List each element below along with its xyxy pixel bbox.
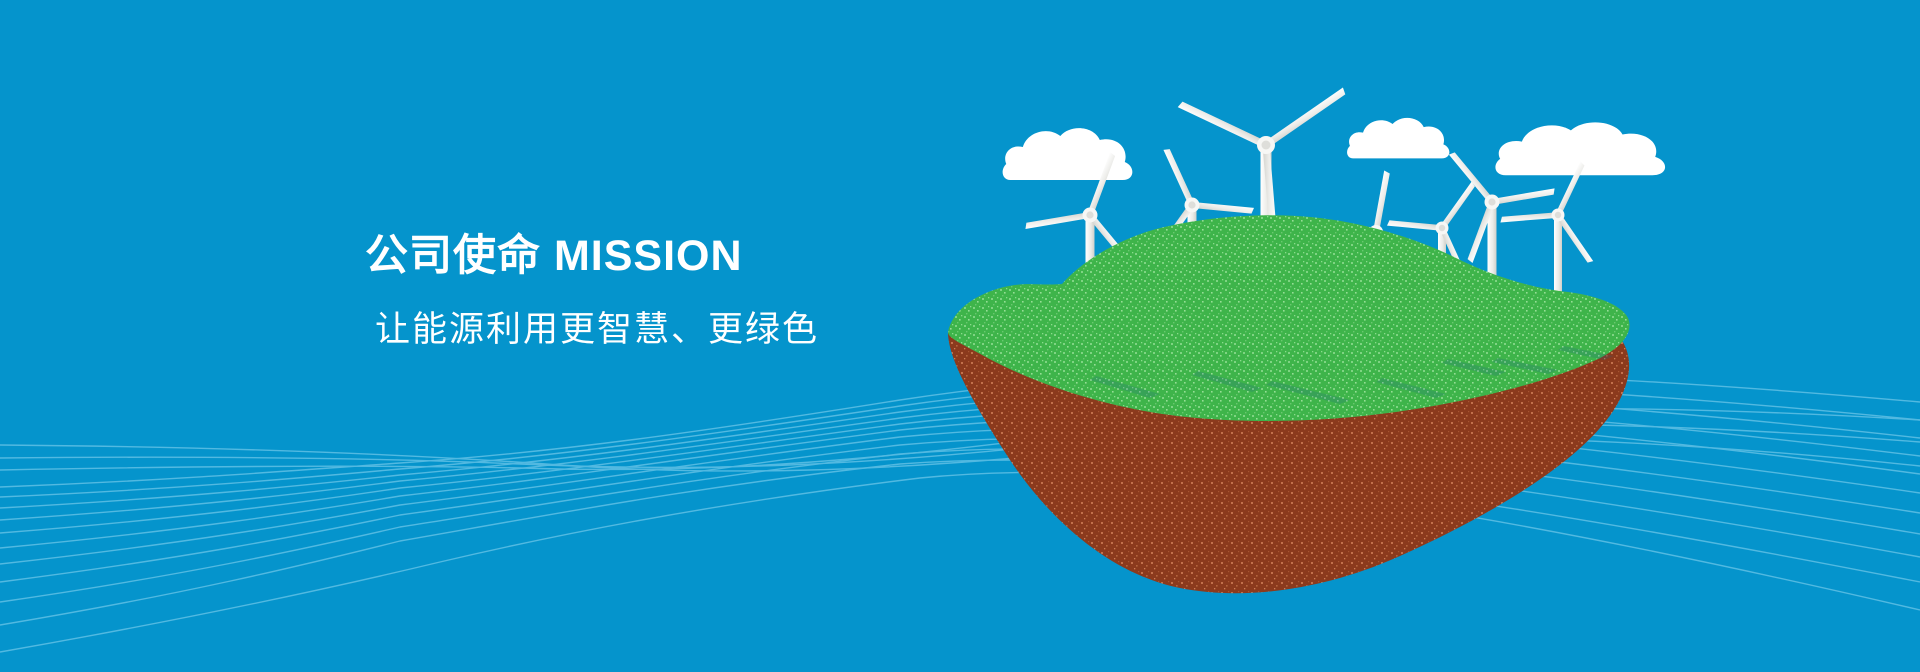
- mission-banner: 公司使命 MISSION 让能源利用更智慧、更绿色: [0, 0, 1920, 672]
- cloud-mid: [1347, 118, 1449, 163]
- page-title: 公司使命 MISSION: [365, 232, 985, 281]
- mission-text-block: 公司使命 MISSION 让能源利用更智慧、更绿色: [365, 232, 985, 351]
- page-subtitle: 让能源利用更智慧、更绿色: [375, 309, 985, 351]
